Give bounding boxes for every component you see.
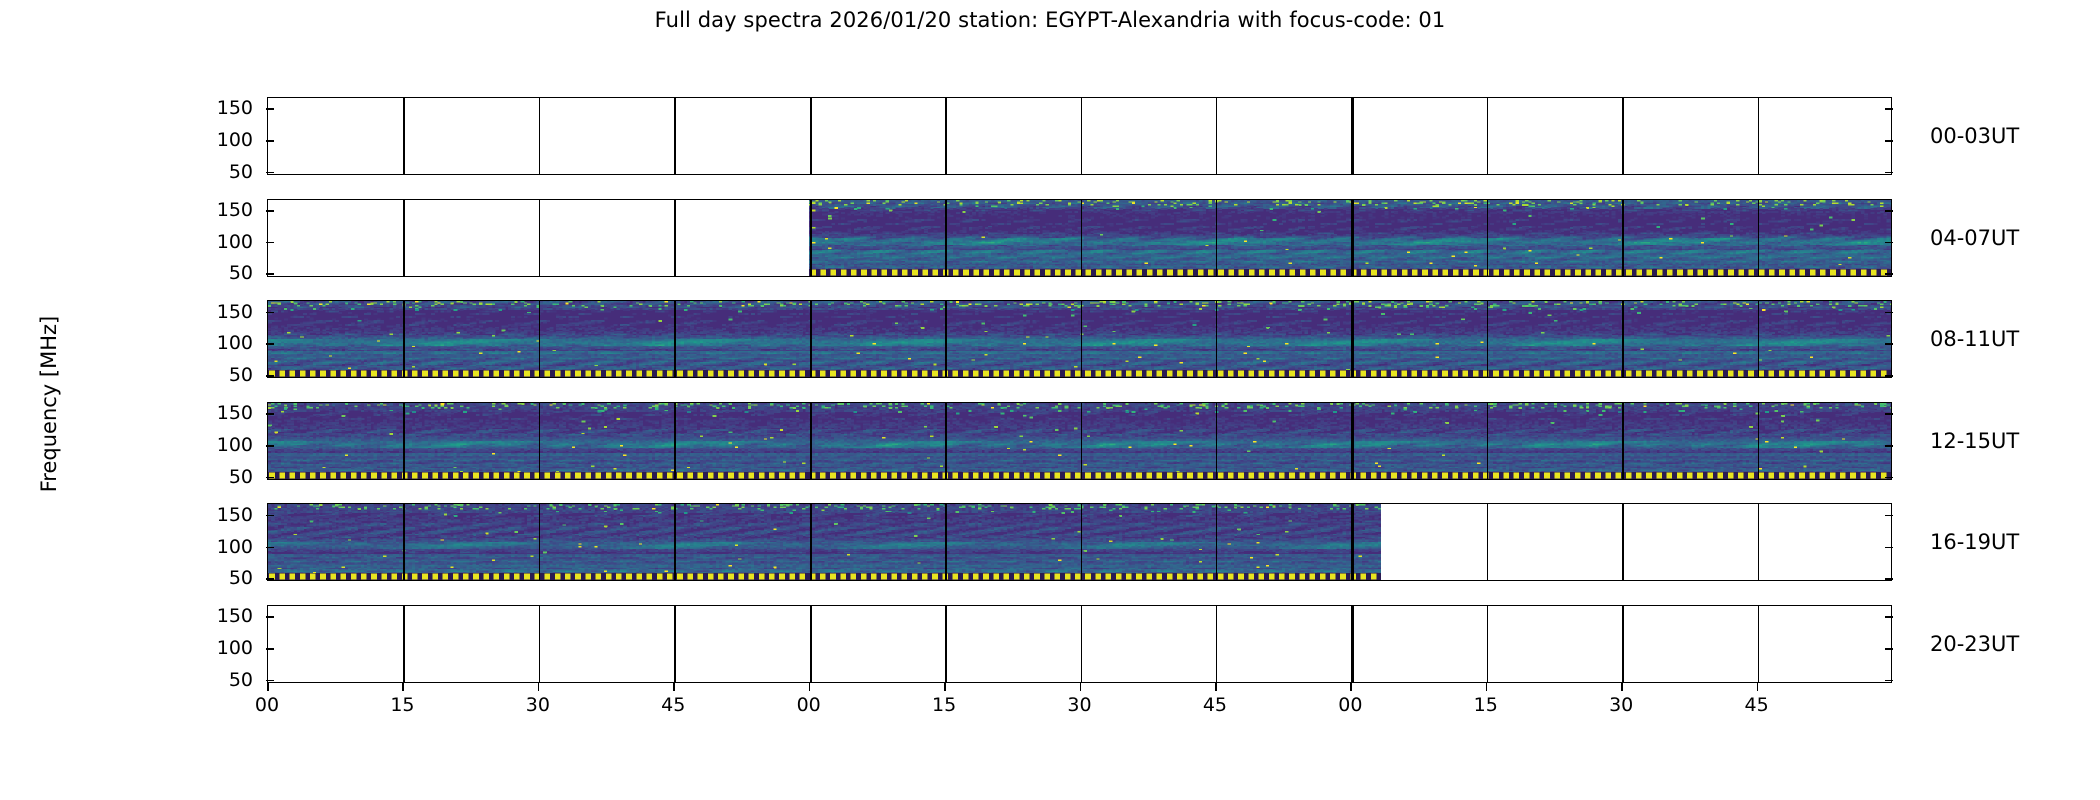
y-axis-tick <box>1885 172 1893 174</box>
y-axis-tick <box>266 445 274 447</box>
y-axis-tick-label: 100 <box>183 639 253 658</box>
panel-gridline <box>1081 504 1083 580</box>
spectrogram-panel[interactable]: 15010050 <box>267 300 1892 378</box>
panel-gridline <box>403 504 405 580</box>
y-axis-tick <box>1885 680 1893 682</box>
panel-gridline <box>1758 301 1760 377</box>
panel-plot-area[interactable] <box>267 97 1892 175</box>
panel-gridline <box>539 606 541 682</box>
y-axis-tick <box>266 547 274 549</box>
spectrogram-panel[interactable]: 15010050 <box>267 199 1892 277</box>
y-axis-tick <box>266 140 274 142</box>
y-axis-tick <box>266 680 274 682</box>
panel-gridline <box>1216 504 1218 580</box>
panel-gridline <box>539 200 541 276</box>
panel-time-label: 20-23UT <box>1930 632 2019 656</box>
panel-gridline <box>403 301 405 377</box>
x-axis-tick <box>1621 683 1623 691</box>
panel-gridline <box>810 200 812 276</box>
x-axis-tick <box>1215 683 1217 691</box>
spectrogram-panel[interactable]: 15010050 <box>267 605 1892 683</box>
panel-gridline <box>1351 301 1353 377</box>
panel-gridline <box>1216 200 1218 276</box>
y-axis-tick <box>266 616 274 618</box>
x-axis-tick-label: 30 <box>1050 694 1110 716</box>
panel-gridline <box>674 98 676 174</box>
panel-gridline <box>674 606 676 682</box>
spectrogram-image <box>268 504 1381 580</box>
x-axis-tick <box>944 683 946 691</box>
panel-gridline <box>810 403 812 479</box>
panel-gridline <box>810 606 812 682</box>
panel-gridline <box>1216 606 1218 682</box>
x-axis-tick-label: 15 <box>1456 694 1516 716</box>
y-axis-tick-label: 150 <box>183 99 253 118</box>
panel-gridline <box>945 301 947 377</box>
panel-gridline <box>674 301 676 377</box>
y-axis-tick-label: 150 <box>183 404 253 423</box>
x-axis-tick <box>402 683 404 691</box>
y-axis-tick <box>1885 648 1893 650</box>
y-axis-tick <box>266 477 274 479</box>
y-axis-tick <box>266 210 274 212</box>
y-axis-tick-label: 150 <box>183 607 253 626</box>
y-axis-tick <box>266 242 274 244</box>
y-axis-tick-label: 50 <box>183 366 253 385</box>
y-axis-tick <box>1885 515 1893 517</box>
panel-gridline <box>945 504 947 580</box>
panel-gridline <box>1081 200 1083 276</box>
x-axis-tick-label: 15 <box>372 694 432 716</box>
y-axis-tick <box>1885 413 1893 415</box>
x-axis-tick <box>538 683 540 691</box>
y-axis-tick-label: 150 <box>183 506 253 525</box>
y-axis-tick-label: 50 <box>183 163 253 182</box>
y-axis-tick <box>1885 312 1893 314</box>
y-axis-tick-label: 50 <box>183 569 253 588</box>
panel-gridline <box>810 301 812 377</box>
panel-plot-area[interactable] <box>267 402 1892 480</box>
panel-gridline <box>1216 301 1218 377</box>
spectrogram-panel[interactable]: 15010050 <box>267 503 1892 581</box>
panel-gridline <box>1622 403 1624 479</box>
panel-gridline <box>674 200 676 276</box>
panel-time-label: 08-11UT <box>1930 327 2019 351</box>
panel-gridline <box>539 98 541 174</box>
x-axis-tick <box>1486 683 1488 691</box>
panel-gridline <box>1351 200 1353 276</box>
panel-gridline <box>539 301 541 377</box>
panel-gridline <box>1487 200 1489 276</box>
y-axis-tick <box>266 343 274 345</box>
spectrogram-panel[interactable]: 15010050 <box>267 402 1892 480</box>
panel-gridline <box>1351 606 1353 682</box>
y-axis-tick-label: 50 <box>183 264 253 283</box>
panel-gridline <box>1351 403 1353 479</box>
x-axis-tick-label: 00 <box>779 694 839 716</box>
panel-gridline <box>1758 98 1760 174</box>
y-axis-tick <box>266 375 274 377</box>
panel-gridline <box>1081 403 1083 479</box>
x-axis-tick-label: 30 <box>1591 694 1651 716</box>
x-axis-tick-label: 15 <box>914 694 974 716</box>
panel-gridline <box>1622 200 1624 276</box>
panel-time-label: 16-19UT <box>1930 530 2019 554</box>
y-axis-tick <box>266 273 274 275</box>
x-axis-tick-label: 45 <box>1185 694 1245 716</box>
panel-gridline <box>403 403 405 479</box>
x-axis: 001530450015304500153045 <box>0 683 2100 743</box>
x-axis-tick-label: 45 <box>643 694 703 716</box>
panel-gridline <box>945 403 947 479</box>
panel-gridline <box>1216 98 1218 174</box>
y-axis-tick <box>1885 343 1893 345</box>
y-axis-tick <box>1885 375 1893 377</box>
panel-gridline <box>1758 200 1760 276</box>
panel-gridline <box>403 200 405 276</box>
x-axis-tick-label: 45 <box>1727 694 1787 716</box>
x-axis-tick-label: 00 <box>1320 694 1380 716</box>
y-axis-tick-label: 50 <box>183 468 253 487</box>
panel-gridline <box>1081 301 1083 377</box>
x-axis-tick <box>1350 683 1352 691</box>
panel-gridline <box>1622 504 1624 580</box>
panel-gridline <box>810 504 812 580</box>
y-axis-tick <box>266 413 274 415</box>
panel-gridline <box>1081 606 1083 682</box>
panel-gridline <box>945 606 947 682</box>
y-axis-tick <box>1885 242 1893 244</box>
panel-gridline <box>674 403 676 479</box>
panel-gridline <box>674 504 676 580</box>
y-axis-tick <box>266 515 274 517</box>
y-axis-tick <box>266 578 274 580</box>
y-axis-tick <box>1885 445 1893 447</box>
y-axis-tick-label: 150 <box>183 303 253 322</box>
x-axis-tick-label: 00 <box>237 694 297 716</box>
panel-gridline <box>1487 301 1489 377</box>
y-axis-tick-label: 100 <box>183 436 253 455</box>
y-axis-tick-label: 100 <box>183 131 253 150</box>
panel-gridline <box>1351 98 1353 174</box>
x-axis-tick <box>1757 683 1759 691</box>
panel-time-label: 04-07UT <box>1930 226 2019 250</box>
x-axis-tick <box>1080 683 1082 691</box>
panel-gridline <box>1351 504 1353 580</box>
y-axis-tick <box>1885 578 1893 580</box>
panel-gridline <box>403 606 405 682</box>
x-axis-tick <box>267 683 269 691</box>
y-axis-tick-label: 100 <box>183 233 253 252</box>
panel-plot-area[interactable] <box>267 503 1892 581</box>
panel-gridline <box>945 98 947 174</box>
page-title: Full day spectra 2026/01/20 station: EGY… <box>0 8 2100 32</box>
y-axis-tick <box>1885 477 1893 479</box>
spectrogram-figure: Full day spectra 2026/01/20 station: EGY… <box>0 0 2100 800</box>
panel-gridline <box>1758 403 1760 479</box>
panel-gridline <box>1758 504 1760 580</box>
y-axis-tick <box>266 172 274 174</box>
y-axis-tick <box>1885 108 1893 110</box>
panel-gridline <box>1622 301 1624 377</box>
x-axis-tick <box>809 683 811 691</box>
panel-gridline <box>1081 98 1083 174</box>
panel-plot-area[interactable] <box>267 199 1892 277</box>
y-axis-tick <box>1885 273 1893 275</box>
y-axis-tick-label: 100 <box>183 538 253 557</box>
y-axis-tick <box>266 108 274 110</box>
panel-gridline <box>1758 606 1760 682</box>
y-axis-tick <box>1885 140 1893 142</box>
x-axis-tick <box>673 683 675 691</box>
panel-gridline <box>1622 98 1624 174</box>
panel-time-label: 00-03UT <box>1930 124 2019 148</box>
y-axis-tick <box>1885 616 1893 618</box>
panel-gridline <box>1487 98 1489 174</box>
panel-gridline <box>539 403 541 479</box>
x-axis-tick-label: 30 <box>508 694 568 716</box>
panel-gridline <box>1487 403 1489 479</box>
y-axis-label: Frequency [MHz] <box>37 174 61 634</box>
panel-gridline <box>945 200 947 276</box>
panel-gridline <box>539 504 541 580</box>
y-axis-tick <box>1885 210 1893 212</box>
panel-gridline <box>1487 504 1489 580</box>
panel-plot-area[interactable] <box>267 300 1892 378</box>
panel-time-label: 12-15UT <box>1930 429 2019 453</box>
panel-gridline <box>810 98 812 174</box>
y-axis-tick <box>266 648 274 650</box>
y-axis-tick <box>266 312 274 314</box>
y-axis-tick <box>1885 547 1893 549</box>
panel-gridline <box>403 98 405 174</box>
panel-gridline <box>1622 606 1624 682</box>
spectrogram-panel[interactable]: 15010050 <box>267 97 1892 175</box>
panel-gridline <box>1487 606 1489 682</box>
panel-plot-area[interactable] <box>267 605 1892 683</box>
y-axis-tick-label: 150 <box>183 201 253 220</box>
y-axis-tick-label: 100 <box>183 334 253 353</box>
panel-gridline <box>1216 403 1218 479</box>
